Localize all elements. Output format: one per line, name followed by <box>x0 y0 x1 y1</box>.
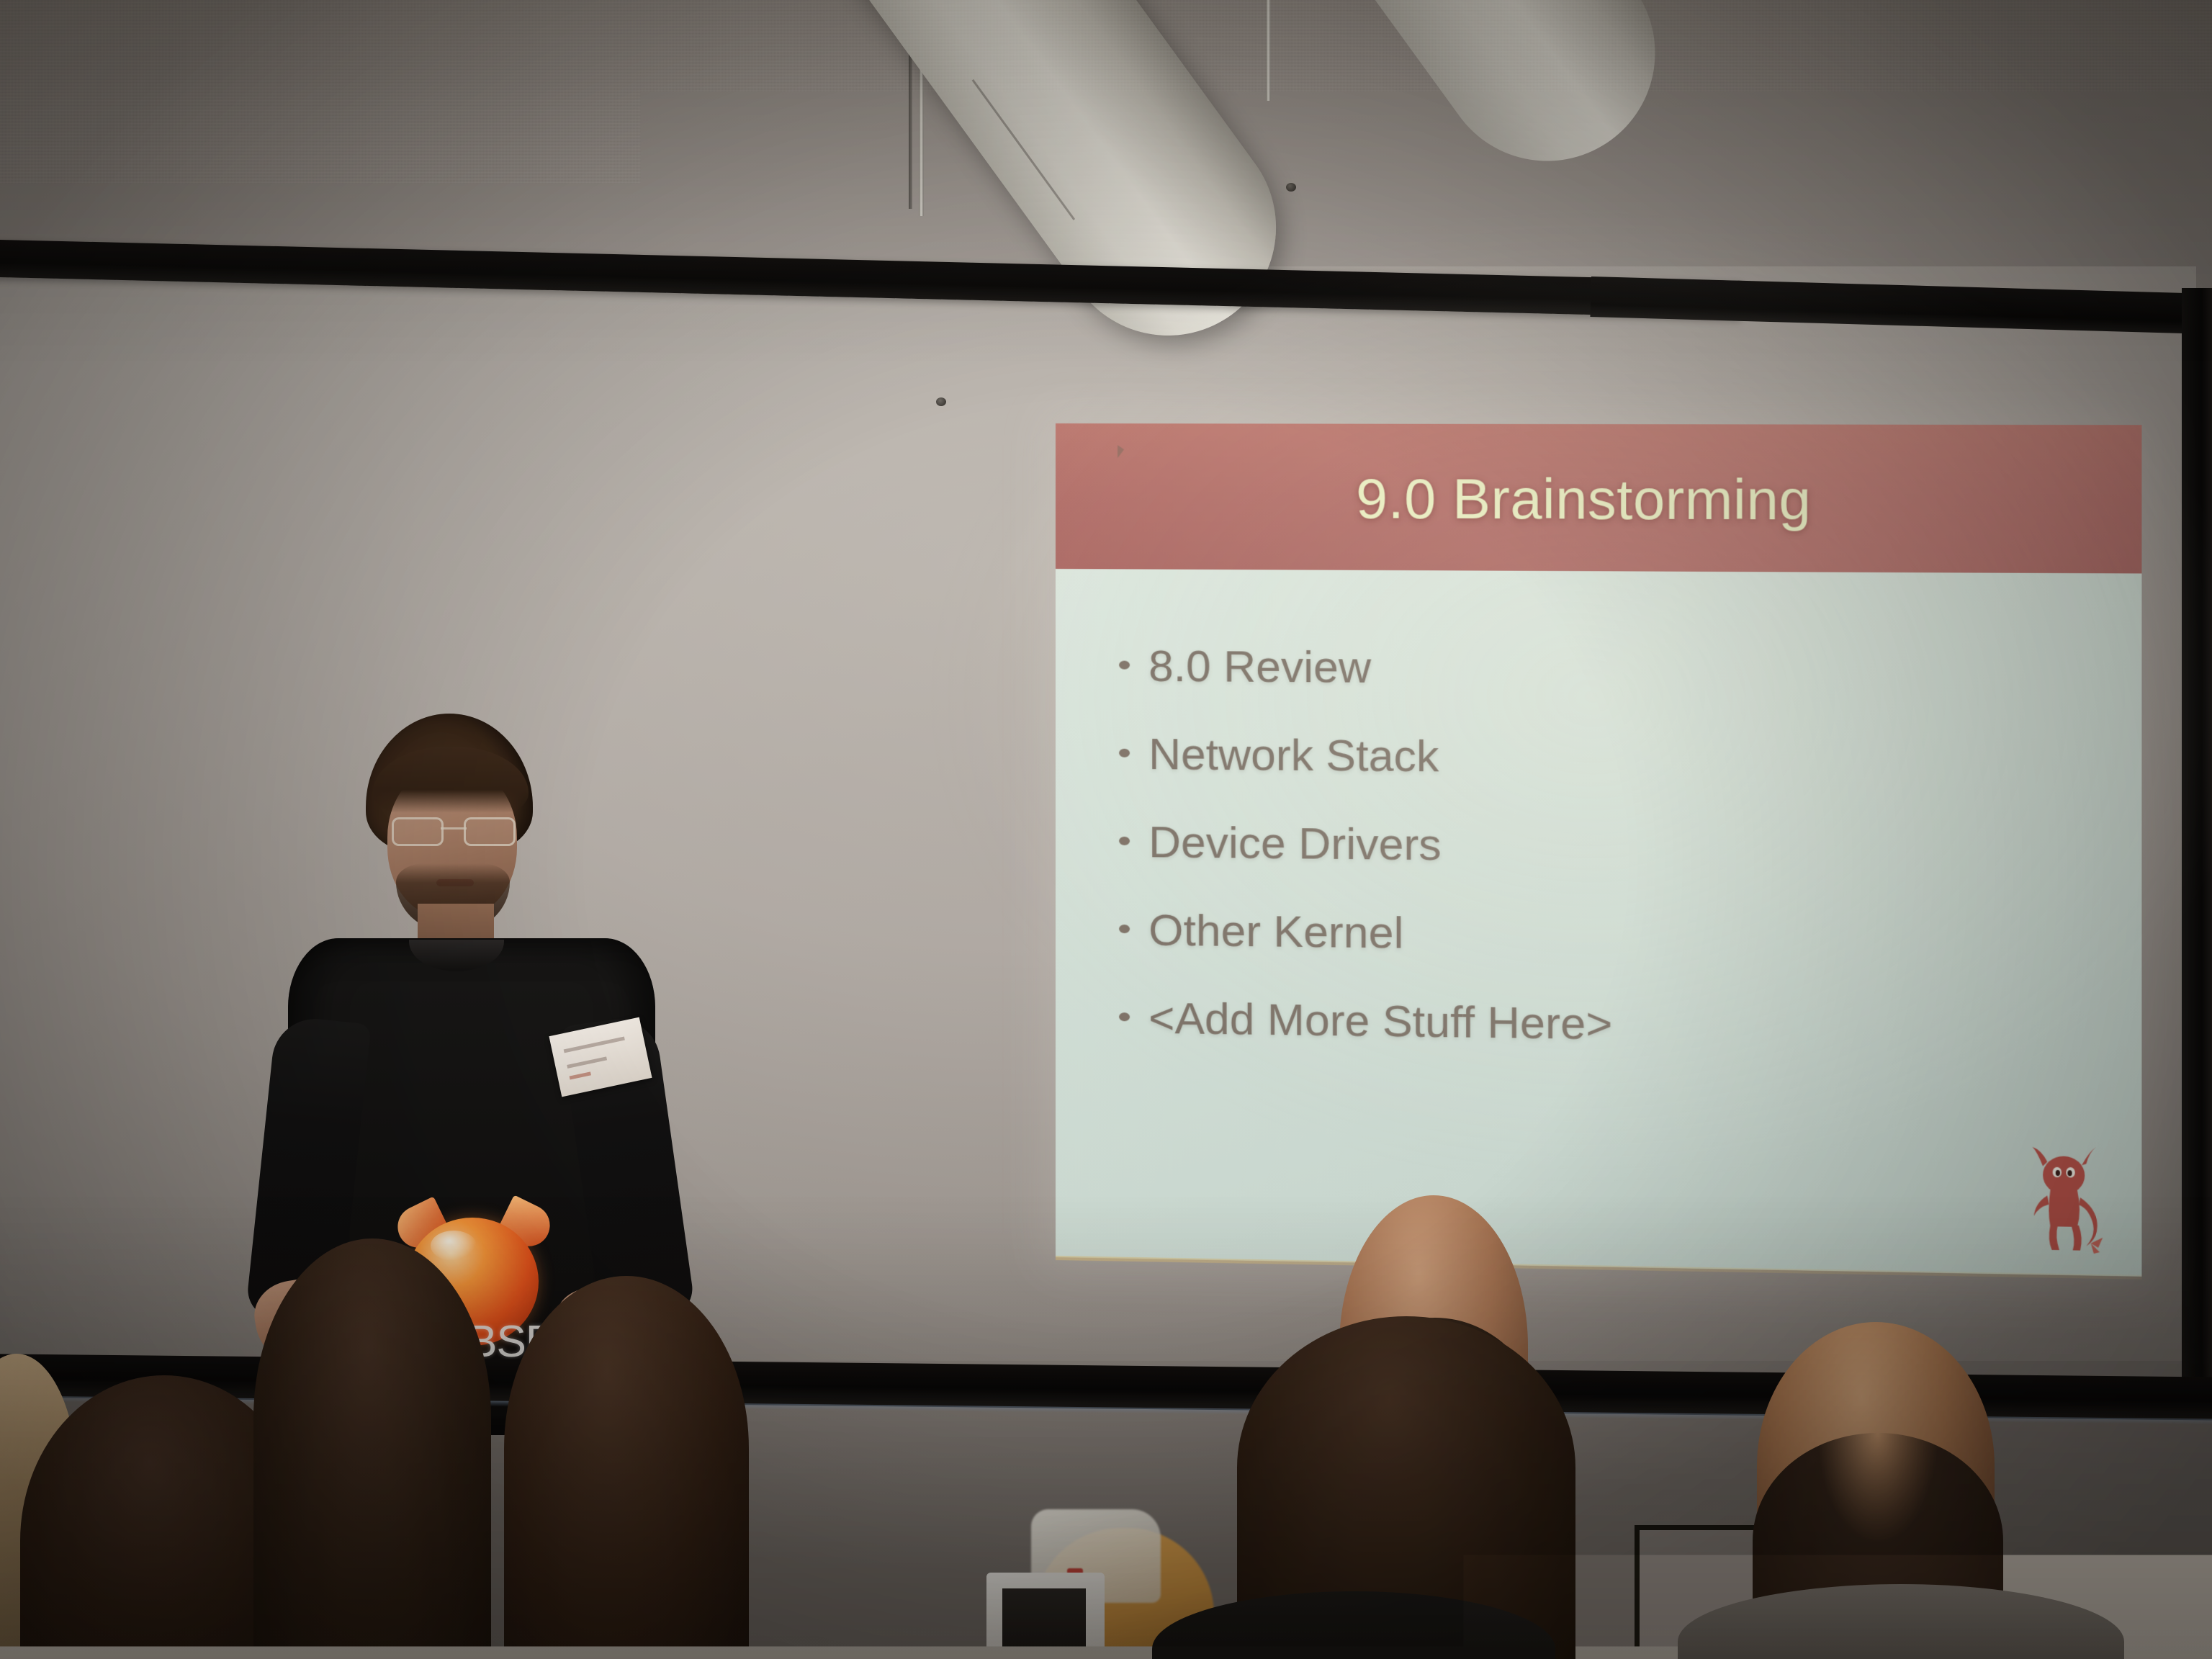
glasses-lens-right <box>464 817 516 846</box>
list-item: Other Kernel <box>1119 908 2141 965</box>
photo-stage: 9.0 Brainstorming 8.0 Review Network Sta… <box>0 0 2212 1659</box>
slide-header: 9.0 Brainstorming <box>1056 423 2141 573</box>
badge-line <box>570 1071 591 1079</box>
list-item: <Add More Stuff Here> <box>1119 996 2141 1054</box>
duct-hanger-strap <box>1266 0 1271 101</box>
duct-screw <box>1286 183 1296 192</box>
slide-title: 9.0 Brainstorming <box>1356 465 1811 533</box>
presenter-glasses <box>390 817 517 842</box>
badge-line <box>564 1037 625 1053</box>
head-dark-left-2 <box>253 1238 491 1659</box>
mouse-pointer-icon <box>1118 445 1124 458</box>
bullet-text: Other Kernel <box>1148 908 1403 956</box>
laptop-screen <box>1002 1588 1086 1659</box>
bullet-dot-icon <box>1119 925 1130 933</box>
bullet-text: <Add More Stuff Here> <box>1148 997 1612 1048</box>
projected-slide: 9.0 Brainstorming 8.0 Review Network Sta… <box>1056 423 2141 1277</box>
bullet-text: Network Stack <box>1148 732 1439 779</box>
list-item: Network Stack <box>1119 732 2141 786</box>
list-item: 8.0 Review <box>1119 644 2141 696</box>
slide-body: 8.0 Review Network Stack Device Drivers … <box>1056 569 2141 1277</box>
bullet-dot-icon <box>1119 749 1130 757</box>
head-dark-left-3 <box>504 1276 749 1659</box>
bullet-dot-icon <box>1119 837 1130 845</box>
bullet-dot-icon <box>1119 1012 1130 1021</box>
logo-highlight <box>431 1231 477 1261</box>
bullet-text: 8.0 Review <box>1148 644 1371 691</box>
list-item: Device Drivers <box>1119 820 2141 875</box>
bullet-dot-icon <box>1119 661 1130 670</box>
glasses-lens-left <box>392 817 444 846</box>
slide-bullet-list: 8.0 Review Network Stack Device Drivers … <box>1056 644 2141 1054</box>
duct-screw <box>936 397 946 406</box>
bullet-text: Device Drivers <box>1148 820 1442 868</box>
bsd-daemon-beastie-icon <box>2025 1144 2105 1257</box>
wall-edge-right <box>2182 288 2212 1411</box>
glasses-bridge <box>441 827 467 829</box>
badge-line <box>567 1056 607 1069</box>
